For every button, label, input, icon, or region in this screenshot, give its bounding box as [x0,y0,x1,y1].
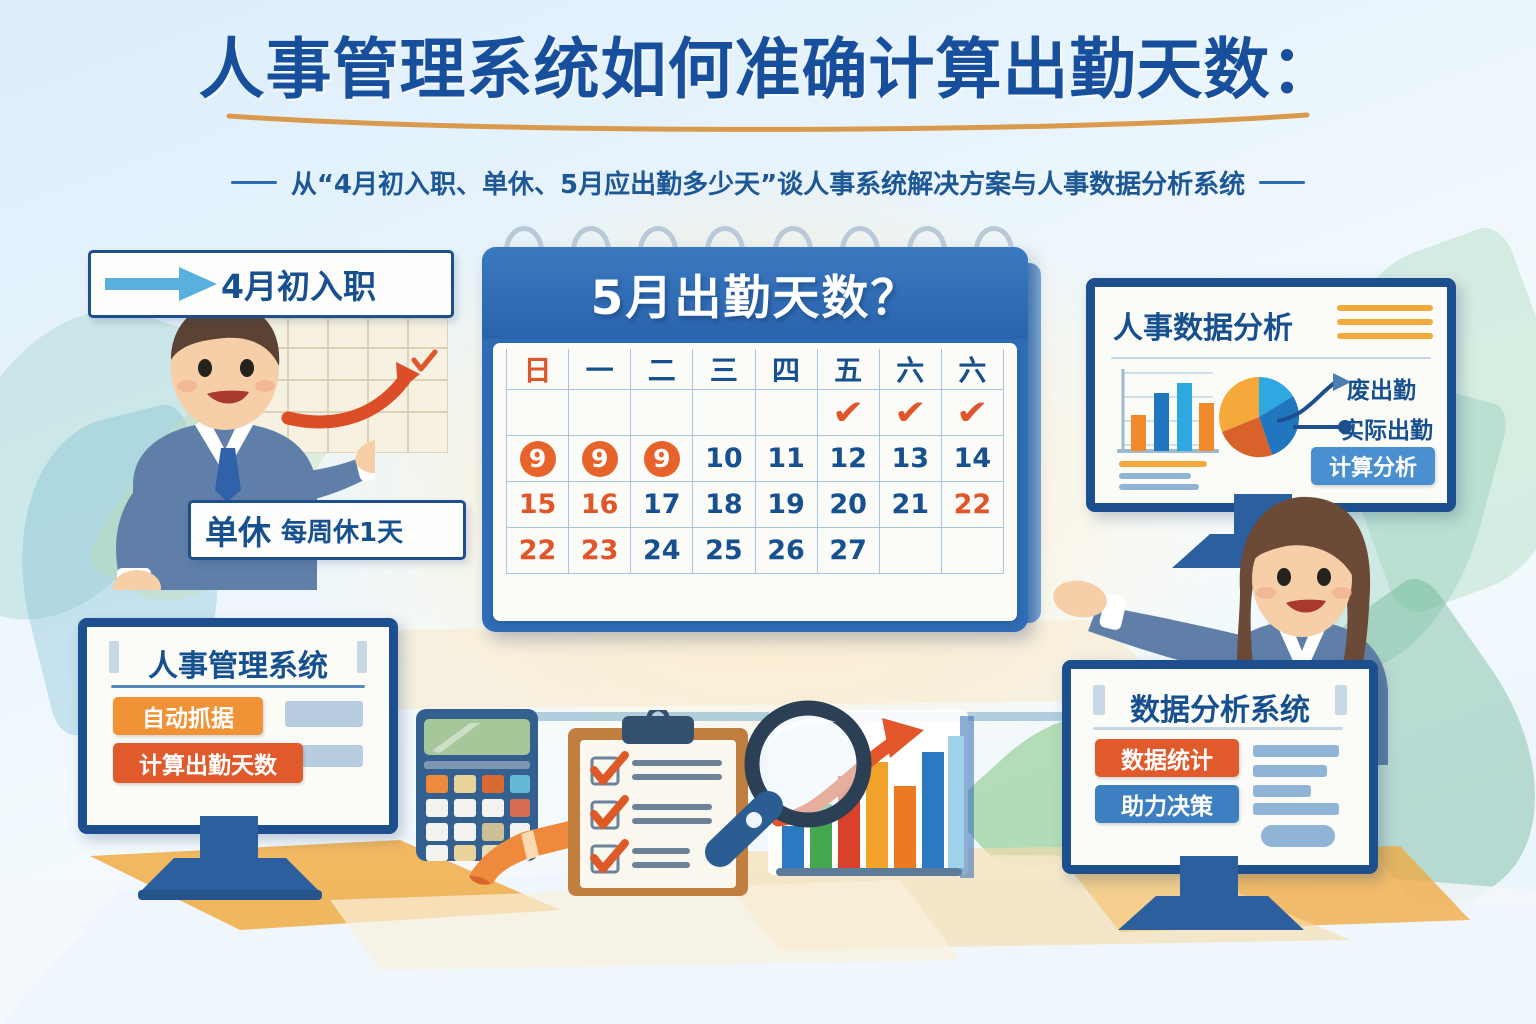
hr-system-placeholder-2 [299,745,363,767]
calendar-weekday-4: 四 [755,349,817,390]
analytics-deco-line-2 [1337,319,1433,325]
data-system-screen: 数据分析系统 数据统计 助力决策 [1062,660,1378,874]
calendar-weekday-5: 五 [817,349,879,390]
monitor-data-system[interactable]: 数据分析系统 数据统计 助力决策 [1062,660,1392,940]
calendar-day-weekend[interactable]: 16 [569,482,631,528]
data-system-line-2 [1253,765,1327,777]
hr-system-pill-1[interactable]: 计算出勤天数 [113,743,303,783]
calendar-day-empty [631,390,693,436]
analytics-divider [1111,357,1431,359]
calendar-weekday-row: 日一二三四五六六 [507,349,1004,390]
subtitle-row: 从“4月初入职、单休、5月应出勤多少天”谈人事系统解决方案与人事数据分析系统 [0,164,1536,201]
hr-system-title: 人事管理系统 [148,649,328,684]
calendar-check-icon[interactable]: ✔ [817,390,879,436]
calendar-day[interactable]: 27 [817,528,879,574]
calendar-day[interactable]: 17 [631,482,693,528]
data-system-pill-1[interactable]: 助力决策 [1095,785,1239,823]
page-header: 人事管理系统如何准确计算出勤天数： [0,34,1536,105]
calendar-day[interactable]: 10 [693,436,755,482]
hire-date-label: 4月初入职 [221,260,376,308]
calendar-day-empty [569,390,631,436]
calendar-day-empty [755,390,817,436]
calendar-day[interactable]: 19 [755,482,817,528]
arrow-right-icon [101,262,221,306]
hr-system-screen: 人事管理系统 自动抓据 计算出勤天数 [78,618,398,834]
calendar-day-empty [941,528,1003,574]
calendar-day-highlighted[interactable]: 9 [569,436,631,482]
hire-date-banner: 4月初入职 [88,250,454,318]
data-system-pill-0[interactable]: 数据统计 [1095,739,1239,777]
analytics-legend-1: 实际出勤 [1341,411,1433,445]
calendar-day[interactable]: 11 [755,436,817,482]
hr-system-divider [111,685,365,688]
data-system-title: 数据分析系统 [1130,693,1310,728]
hr-system-monitor-base [138,854,322,902]
rest-policy-banner: 单休 每周休1天 [188,500,466,560]
calendar-body: 5月出勤天数？ 日一二三四五六六 ✔✔✔99910111213141516171… [482,247,1028,632]
calendar-weekday-3: 三 [693,349,755,390]
calendar-check-icon[interactable]: ✔ [941,390,1003,436]
calendar-weekday-0: 日 [507,349,569,390]
calendar-day-empty [879,528,941,574]
calendar-weekday-6: 六 [879,349,941,390]
calendar-page: 日一二三四五六六 ✔✔✔9991011121314151617181920212… [493,343,1017,621]
calendar-day-weekend[interactable]: 23 [569,528,631,574]
calendar-week-row: 222324252627 [507,528,1004,574]
data-system-monitor-base [1118,892,1304,938]
calendar-weekday-2: 二 [631,349,693,390]
analytics-deco-line-3 [1337,333,1433,339]
hr-analytics-screen: 人事数据分析 [1086,278,1456,512]
analytics-deco-line-1 [1337,305,1433,311]
calendar-day-empty [507,390,569,436]
rest-policy-strong: 单休 [205,506,271,554]
analytics-calculate-button[interactable]: 计算分析 [1311,447,1435,485]
data-system-button-shape[interactable] [1261,825,1335,847]
calendar-day-weekend[interactable]: 15 [507,482,569,528]
title-underline [223,112,1313,134]
calendar-week-row: 9991011121314 [507,436,1004,482]
calendar-week-row: 1516171819202122 [507,482,1004,528]
calendar-day[interactable]: 21 [879,482,941,528]
poster-canvas: 人事管理系统如何准确计算出勤天数： 从“4月初入职、单休、5月应出勤多少天”谈人… [0,0,1536,1024]
calendar-header: 5月出勤天数？ [482,247,1028,339]
calendar-day-empty [693,390,755,436]
calendar-week-row: ✔✔✔ [507,390,1004,436]
calendar-day[interactable]: 24 [631,528,693,574]
data-system-line-3 [1253,785,1311,797]
attendance-calendar: 5月出勤天数？ 日一二三四五六六 ✔✔✔99910111213141516171… [482,247,1042,637]
data-system-divider [1093,727,1343,730]
calendar-day[interactable]: 26 [755,528,817,574]
calendar-weekday-1: 一 [569,349,631,390]
page-title: 人事管理系统如何准确计算出勤天数： [0,34,1536,105]
calendar-day[interactable]: 12 [817,436,879,482]
hr-analytics-title: 人事数据分析 [1113,311,1293,346]
calendar-day[interactable]: 14 [941,436,1003,482]
calendar-day-highlighted[interactable]: 9 [631,436,693,482]
calendar-title: 5月出勤天数？ [591,259,920,328]
monitor-hr-system[interactable]: 人事管理系统 自动抓据 计算出勤天数 [78,618,408,913]
hr-system-pill-0[interactable]: 自动抓据 [113,697,263,735]
calendar-day-weekend[interactable]: 22 [507,528,569,574]
calendar-day[interactable]: 18 [693,482,755,528]
calendar-grid: 日一二三四五六六 ✔✔✔9991011121314151617181920212… [506,349,1004,574]
data-system-line-1 [1253,745,1339,757]
hr-system-placeholder-1 [285,701,363,727]
rest-policy-detail: 每周休1天 [281,512,403,549]
calendar-check-icon[interactable]: ✔ [879,390,941,436]
calendar-weekday-7: 六 [941,349,1003,390]
page-subtitle: 从“4月初入职、单休、5月应出勤多少天”谈人事系统解决方案与人事数据分析系统 [291,164,1245,201]
analytics-legend-0: 废出勤 [1347,371,1416,405]
subtitle-dash-right [1259,181,1305,184]
calendar-day-weekend[interactable]: 22 [941,482,1003,528]
calendar-day[interactable]: 13 [879,436,941,482]
subtitle-dash-left [231,181,277,184]
magnifying-glass-icon [690,700,880,890]
calendar-day[interactable]: 20 [817,482,879,528]
data-system-line-4 [1253,803,1339,815]
calendar-day[interactable]: 25 [693,528,755,574]
calendar-day-highlighted[interactable]: 9 [507,436,569,482]
